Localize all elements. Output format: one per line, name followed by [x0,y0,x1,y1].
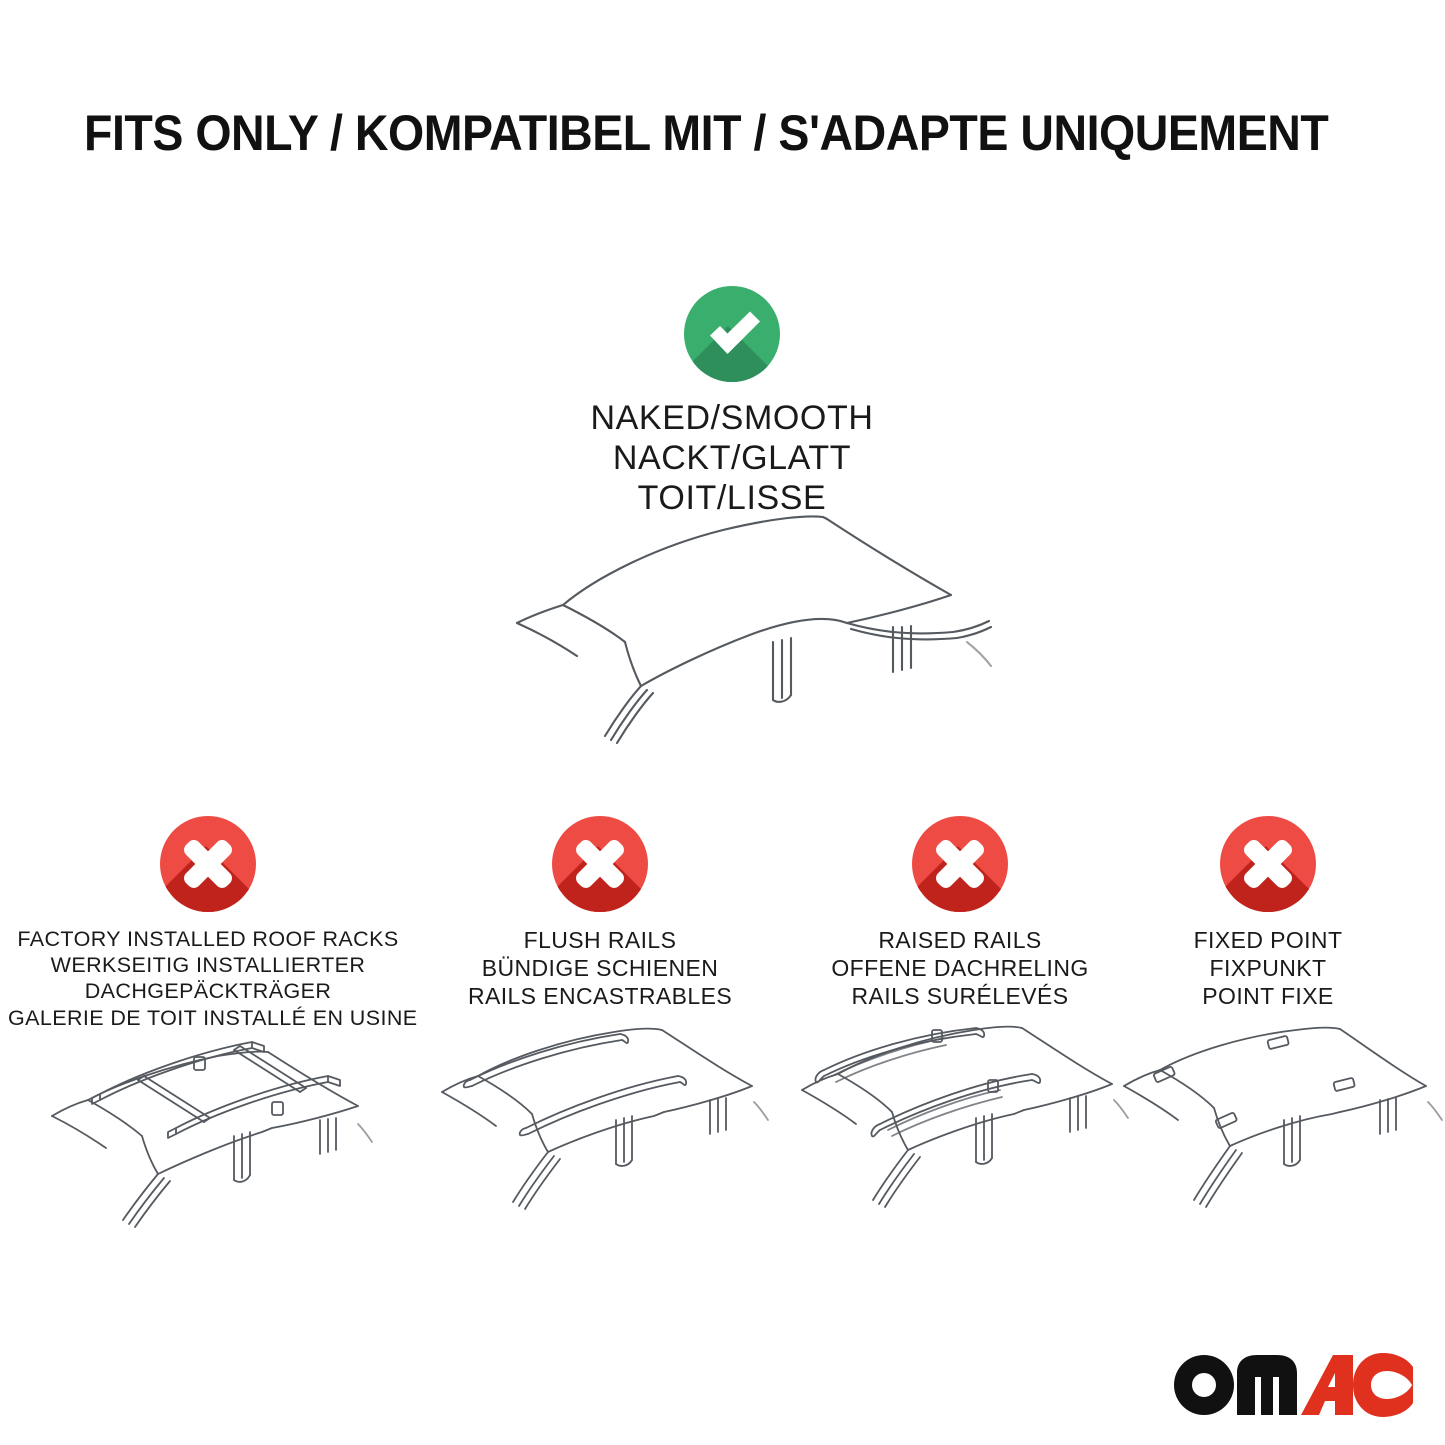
x-circle-icon [912,816,1008,912]
caption-de-1: OFFENE DACHRELING [785,954,1135,982]
car-roof-flush-rails-illustration [420,1024,780,1259]
incompatible-caption: FIXED POINT FIXPUNKT POINT FIXE [1128,926,1408,1010]
incompatible-caption: FACTORY INSTALLED ROOF RACKS WERKSEITIG … [8,926,408,1031]
x-circle-icon [552,816,648,912]
incompatible-caption: RAISED RAILS OFFENE DACHRELING RAILS SUR… [785,926,1135,1010]
fitment-infographic: FITS ONLY / KOMPATIBEL MIT / S'ADAPTE UN… [0,0,1445,1445]
car-roof-raised-rails-illustration [780,1024,1140,1259]
compatible-block: NAKED/SMOOTH NACKT/GLATT TOIT/LISSE [472,286,992,518]
car-roof-fixed-point-illustration [1088,1024,1445,1259]
x-circle-icon [160,816,256,912]
car-roof-factory-rack-illustration [28,1024,388,1259]
compatible-label-en: NAKED/SMOOTH [472,398,992,438]
incompatible-item-factory-installed-roof-racks: FACTORY INSTALLED ROOF RACKS WERKSEITIG … [8,816,408,1031]
caption-en: FACTORY INSTALLED ROOF RACKS [8,926,408,952]
caption-en: RAISED RAILS [785,926,1135,954]
incompatible-item-fixed-point: FIXED POINT FIXPUNKT POINT FIXE [1128,816,1408,1010]
caption-en: FLUSH RAILS [415,926,785,954]
caption-de-1: FIXPUNKT [1128,954,1408,982]
incompatible-item-raised-rails: RAISED RAILS OFFENE DACHRELING RAILS SUR… [785,816,1135,1010]
caption-fr: POINT FIXE [1128,982,1408,1010]
caption-de-2: DACHGEPÄCKTRÄGER [8,978,408,1004]
caption-de-1: WERKSEITIG INSTALLIERTER [8,952,408,978]
page-title: FITS ONLY / KOMPATIBEL MIT / S'ADAPTE UN… [84,108,1284,158]
incompatible-row: FACTORY INSTALLED ROOF RACKS WERKSEITIG … [0,816,1445,1256]
caption-fr: RAILS ENCASTRABLES [415,982,785,1010]
caption-de-1: BÜNDIGE SCHIENEN [415,954,785,982]
check-circle-icon [684,286,780,382]
caption-en: FIXED POINT [1128,926,1408,954]
car-roof-naked-smooth-illustration [455,492,1015,752]
omac-logo [1167,1343,1417,1423]
compatible-label-de: NACKT/GLATT [472,438,992,478]
incompatible-item-flush-rails: FLUSH RAILS BÜNDIGE SCHIENEN RAILS ENCAS… [415,816,785,1010]
incompatible-caption: FLUSH RAILS BÜNDIGE SCHIENEN RAILS ENCAS… [415,926,785,1010]
x-circle-icon [1220,816,1316,912]
caption-fr: RAILS SURÉLEVÉS [785,982,1135,1010]
